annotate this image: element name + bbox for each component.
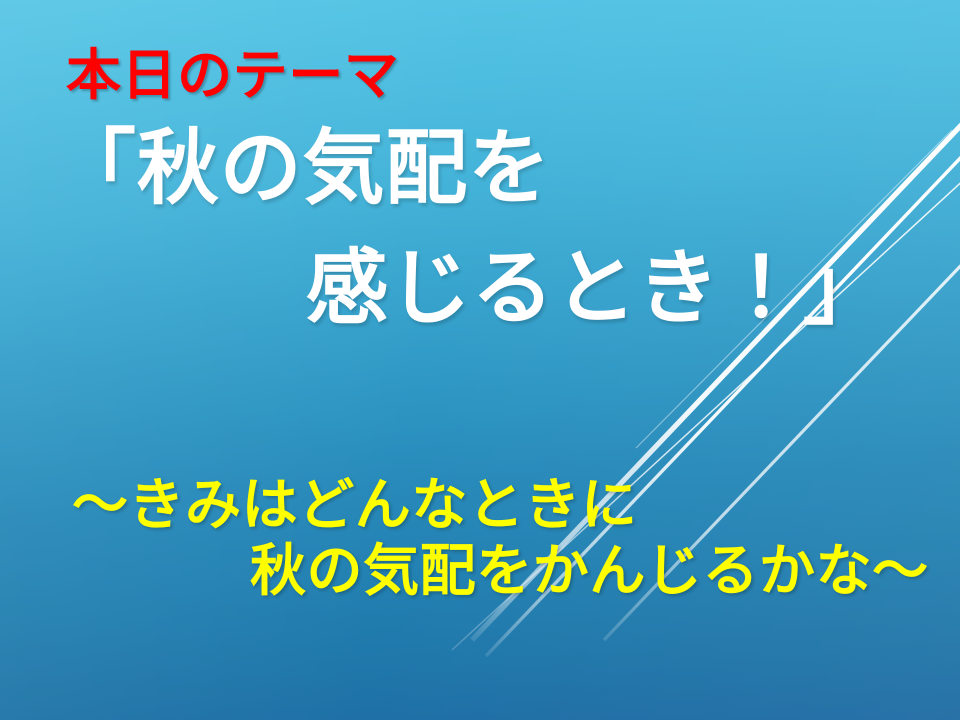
diagonal-streaks-decoration bbox=[0, 0, 960, 720]
theme-label: 本日のテーマ bbox=[66, 48, 399, 103]
subtitle-line-2: 秋の気配をかんじるかな〜 bbox=[250, 544, 929, 600]
subtitle-line-1: 〜きみはどんなときに bbox=[72, 478, 638, 534]
headline-line-1: 「秋の気配を bbox=[54, 128, 551, 210]
slide-canvas: 本日のテーマ 「秋の気配を 感じるとき！」 〜きみはどんなときに 秋の気配をかん… bbox=[0, 0, 960, 720]
headline-line-2: 感じるとき！」 bbox=[306, 248, 886, 330]
